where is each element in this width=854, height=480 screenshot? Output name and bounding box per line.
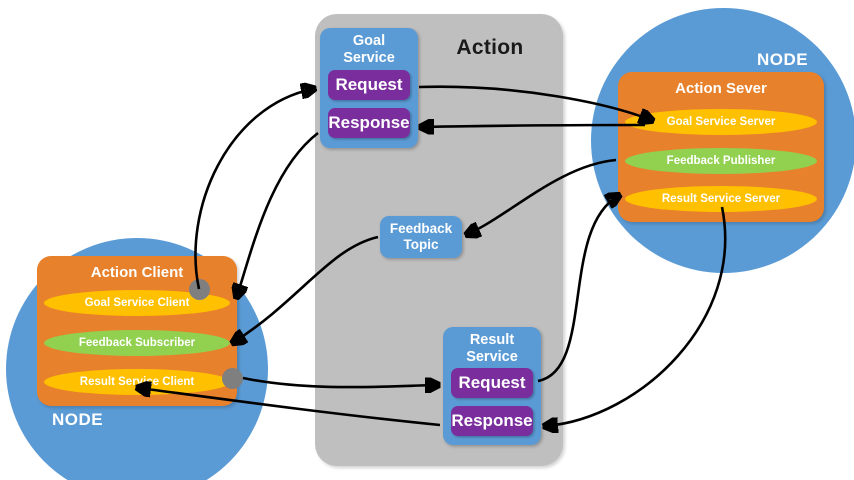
action-client-title: Action Client — [37, 264, 237, 281]
action-server-box: Action Sever Goal Service Server Feedbac… — [618, 72, 824, 222]
feedback-topic-line2: Topic — [404, 237, 439, 252]
result-service-client-connector-dot — [222, 368, 243, 389]
feedback-topic-box[interactable]: Feedback Topic — [380, 216, 462, 258]
goal-service-title-line1: Goal — [353, 33, 385, 49]
feedback-topic-line1: Feedback — [390, 221, 452, 236]
goal-service-title: Goal Service — [320, 33, 418, 67]
diagram-canvas: Action Action Client Goal Service Client… — [0, 0, 854, 480]
goal-service-title-line2: Service — [343, 50, 395, 66]
result-service-title: Result Service — [443, 332, 541, 366]
action-client-box: Action Client Goal Service Client Feedba… — [37, 256, 237, 406]
pill-feedback-subscriber[interactable]: Feedback Subscriber — [44, 330, 230, 356]
goal-service-client-connector-dot — [189, 279, 210, 300]
pill-result-service-server[interactable]: Result Service Server — [625, 186, 817, 212]
pill-feedback-publisher[interactable]: Feedback Publisher — [625, 148, 817, 174]
result-service-title-line2: Service — [466, 349, 518, 365]
pill-goal-service-server[interactable]: Goal Service Server — [625, 109, 817, 135]
server-node-label: NODE — [757, 50, 808, 70]
client-node-label: NODE — [52, 410, 103, 430]
action-container-title: Action — [430, 36, 550, 60]
pill-result-service-client[interactable]: Result Service Client — [44, 369, 230, 395]
result-service-title-line1: Result — [470, 332, 514, 348]
arrow-goal-response-to-client — [237, 133, 318, 296]
goal-service-request[interactable]: Request — [328, 70, 410, 100]
feedback-topic-label: Feedback Topic — [390, 221, 452, 253]
result-service-box: Result Service Request Response — [443, 327, 541, 445]
goal-service-box: Goal Service Request Response — [320, 28, 418, 148]
result-service-response[interactable]: Response — [451, 406, 533, 436]
result-service-request[interactable]: Request — [451, 368, 533, 398]
goal-service-response[interactable]: Response — [328, 108, 410, 138]
action-server-title: Action Sever — [618, 80, 824, 97]
